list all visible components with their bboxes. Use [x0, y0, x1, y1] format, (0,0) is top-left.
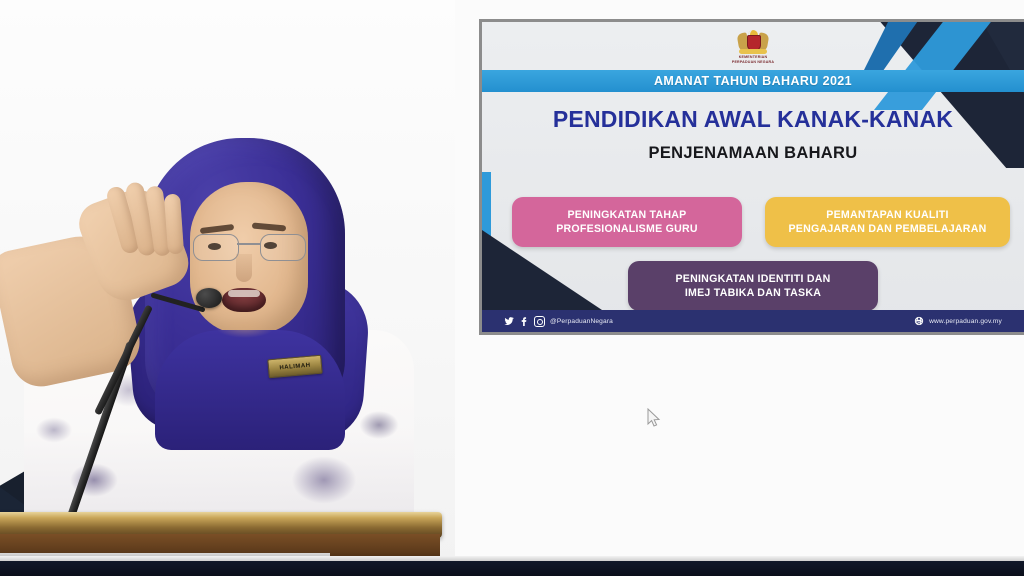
pillar-3-line-1: PENINGKATAN IDENTITI DAN: [675, 272, 830, 286]
globe-icon: [914, 316, 924, 326]
pillar-box-professionalism: PENINGKATAN TAHAP PROFESIONALISME GURU: [512, 197, 742, 247]
pillar-box-identity-image: PENINGKATAN IDENTITI DAN IMEJ TABIKA DAN…: [628, 261, 878, 311]
ministry-name-line-1: KEMENTERIAN: [739, 55, 768, 59]
lens-right: [260, 234, 306, 261]
social-handle: @PerpaduanNegara: [550, 318, 613, 325]
website-link: www.perpaduan.gov.my: [914, 316, 1002, 326]
lens-left: [193, 234, 239, 261]
pillar-1-line-2: PROFESIONALISME GURU: [556, 222, 698, 236]
malaysia-coat-of-arms-icon: [738, 28, 768, 54]
ministry-logo: KEMENTERIAN PERPADUAN NEGARA: [708, 28, 798, 70]
slide-footer: @PerpaduanNegara www.perpaduan.gov.my: [482, 310, 1024, 332]
instagram-icon: [534, 316, 545, 327]
microphone-head: [196, 288, 222, 308]
screen: HALIMAH KEMENTERIAN PERPADUAN NEGARA AMA…: [0, 0, 1024, 576]
facebook-icon: [519, 316, 529, 326]
website-url: www.perpaduan.gov.my: [929, 318, 1002, 325]
ministry-name-line-2: PERPADUAN NEGARA: [732, 60, 774, 64]
nose: [236, 254, 252, 282]
slide-banner-text: AMANAT TAHUN BAHARU 2021: [654, 74, 852, 88]
slide-title: PENDIDIKAN AWAL KANAK-KANAK: [482, 106, 1024, 133]
pillar-2-line-2: PENGAJARAN DAN PEMBELAJARAN: [788, 222, 986, 236]
glasses-bridge: [237, 243, 260, 245]
hijab-front-drape: [155, 330, 345, 450]
teeth: [228, 290, 260, 297]
speaker-figure: [10, 130, 430, 550]
social-links: @PerpaduanNegara: [504, 316, 613, 327]
crest-ribbon: [739, 49, 767, 54]
pillar-box-teaching-quality: PEMANTAPAN KUALITI PENGAJARAN DAN PEMBEL…: [765, 197, 1010, 247]
presentation-slide[interactable]: KEMENTERIAN PERPADUAN NEGARA AMANAT TAHU…: [479, 19, 1024, 335]
pillar-2-line-1: PEMANTAPAN KUALITI: [788, 208, 986, 222]
bottom-letterbox-bar: [0, 561, 1024, 576]
slide-banner: AMANAT TAHUN BAHARU 2021: [482, 70, 1024, 92]
pillar-1-line-1: PENINGKATAN TAHAP: [556, 208, 698, 222]
twitter-icon: [504, 316, 514, 326]
chin: [215, 316, 275, 338]
slide-subtitle: PENJENAMAAN BAHARU: [482, 144, 1024, 163]
pillar-3-line-2: IMEJ TABIKA DAN TASKA: [675, 286, 830, 300]
name-badge-label: HALIMAH: [279, 362, 311, 371]
mouse-pointer-icon: [647, 408, 661, 428]
